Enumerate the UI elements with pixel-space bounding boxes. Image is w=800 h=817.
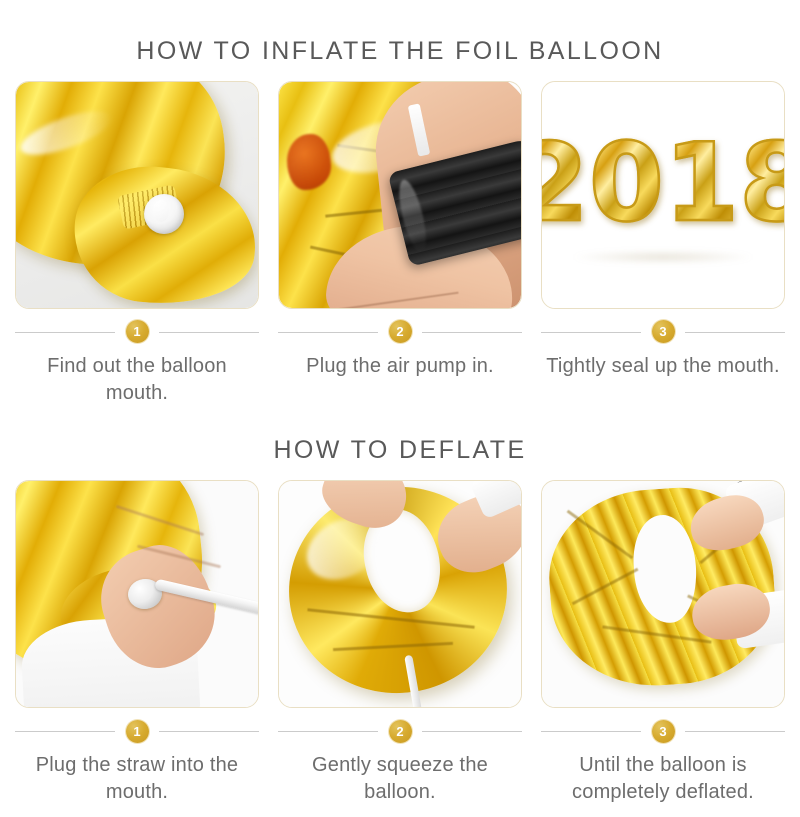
infographic-page: HOW TO INFLATE THE FOIL BALLOON 1 Find o… [0,17,800,817]
divider-rule-left [541,332,641,333]
divider-rule-left [541,731,641,732]
photo-card-inflate-1 [15,81,259,309]
photo-card-deflate-3 [541,480,785,708]
step-card-deflate-1: 1 Plug the straw into the mouth. [14,480,260,806]
number-balloon-row: 2 0 1 8 [542,134,784,233]
divider-rule-right [422,332,522,333]
step-number-badge: 1 [126,320,149,343]
step-caption-deflate-1: Plug the straw into the mouth. [15,752,259,806]
balloon-valve-icon [144,194,184,234]
divider-rule-right [685,731,785,732]
section-title-inflate: HOW TO INFLATE THE FOIL BALLOON [0,17,800,64]
divider-rule-right [159,731,259,732]
step-divider-inflate-3: 3 [541,317,785,347]
divider-rule-right [685,332,785,333]
step-divider-inflate-2: 2 [278,317,522,347]
step-divider-deflate-2: 2 [278,716,522,746]
balloon-shadow [570,250,756,264]
photo-balloon-mouth-valve [16,82,258,308]
photo-card-deflate-1 [15,480,259,708]
step-caption-inflate-3: Tightly seal up the mouth. [541,353,785,380]
photo-2018-number-balloons: 2 0 1 8 [542,82,784,308]
photo-card-inflate-3: 2 0 1 8 [541,81,785,309]
step-number-badge: 3 [652,720,675,743]
step-caption-deflate-2: Gently squeeze the balloon. [278,752,522,806]
divider-rule-left [278,332,378,333]
divider-rule-right [422,731,522,732]
photo-straw-into-mouth [16,481,258,707]
divider-rule-left [15,731,115,732]
number-balloon-digit: 2 [542,134,587,233]
deflate-steps-row: 1 Plug the straw into the mouth. [0,480,800,806]
step-card-inflate-1: 1 Find out the balloon mouth. [14,81,260,407]
number-balloon-digit: 1 [664,134,737,233]
divider-rule-right [159,332,259,333]
photo-squeeze-balloon [279,481,521,707]
section-title-deflate: HOW TO DEFLATE [0,423,800,463]
photo-card-deflate-2 [278,480,522,708]
step-card-deflate-2: 2 Gently squeeze the balloon. [277,480,523,806]
photo-air-pump-plugged-in [279,82,521,308]
step-number-badge: 3 [652,320,675,343]
photo-card-inflate-2 [278,81,522,309]
step-number-badge: 2 [389,720,412,743]
step-caption-inflate-2: Plug the air pump in. [278,353,522,380]
step-divider-deflate-3: 3 [541,716,785,746]
step-caption-inflate-1: Find out the balloon mouth. [15,353,259,407]
step-divider-deflate-1: 1 [15,716,259,746]
photo-fully-deflated-balloon [542,481,784,707]
number-balloon-digit: 0 [589,134,662,233]
step-number-badge: 1 [126,720,149,743]
step-card-deflate-3: 3 Until the balloon is completely deflat… [540,480,786,806]
number-balloon-digit: 8 [739,134,784,233]
step-caption-deflate-3: Until the balloon is completely deflated… [541,752,785,806]
divider-rule-left [278,731,378,732]
step-card-inflate-3: 2 0 1 8 3 Tightly seal up the mouth. [540,81,786,407]
step-divider-inflate-1: 1 [15,317,259,347]
foil-red-reflection [287,134,331,190]
divider-rule-left [15,332,115,333]
step-card-inflate-2: 2 Plug the air pump in. [277,81,523,407]
inflate-steps-row: 1 Find out the balloon mouth. [0,81,800,407]
step-number-badge: 2 [389,320,412,343]
